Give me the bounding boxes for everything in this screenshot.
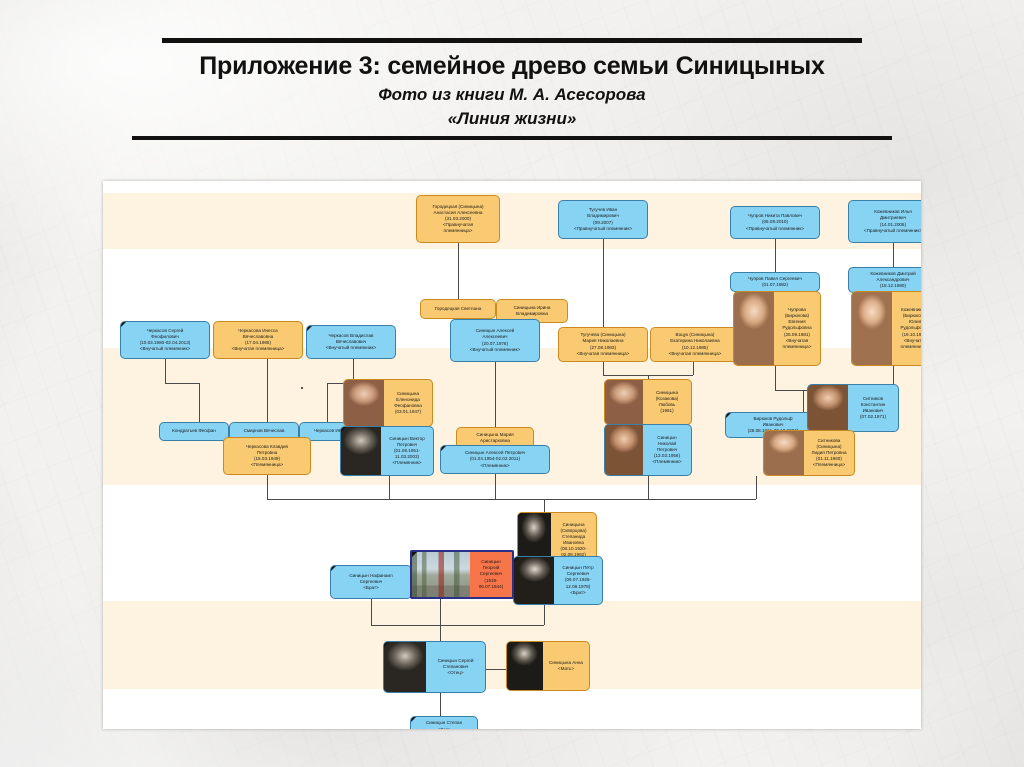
connector xyxy=(648,476,649,499)
connector xyxy=(775,366,776,390)
header-rule-top xyxy=(162,38,862,43)
connector xyxy=(371,599,372,625)
node-sinitsyn-nafanail[interactable]: Синицын Нафанаил Сергеевич <Брат> xyxy=(330,565,412,599)
portrait-photo xyxy=(808,385,848,431)
node-cherkasov-vladislav[interactable]: Черкасов Владислав Вячеславович <Внучаты… xyxy=(306,325,396,359)
node-sinitsyna-elenonida[interactable]: Синицына Еленонида Феофановна (03.01.194… xyxy=(343,379,433,427)
node-chuprov-nikita[interactable]: Чупров Никита Павлович (06.08.2010) <Пра… xyxy=(730,206,820,239)
portrait-photo xyxy=(734,292,774,365)
node-text: Ситников Константин Иванович (07.02.1971… xyxy=(848,385,898,431)
family-tree-canvas[interactable]: Городецкая (Синицына) Анастасия Алексеев… xyxy=(103,181,921,729)
node-kozhevnikov-dmitry[interactable]: Кожевников Дмитрий Александрович (18.12.… xyxy=(848,267,921,293)
node-sinitsyn-petr[interactable]: Синицын Пётр Сергеевич (06.07.1925- 12.0… xyxy=(513,556,603,605)
node-sinitsyn-georgiy[interactable]: Синицын Георгий Сергеевич (1919- 06.07.1… xyxy=(410,550,514,599)
note-corner-icon xyxy=(307,326,312,331)
stray-dot xyxy=(301,387,303,389)
node-cherkasov-sergey[interactable]: Черкасов Сергей Феофилович (10.03.1980-0… xyxy=(120,321,210,359)
connector xyxy=(495,474,496,499)
page-subtitle-2: «Линия жизни» xyxy=(0,109,1024,129)
note-corner-icon xyxy=(121,322,126,327)
note-corner-icon xyxy=(331,566,336,571)
node-sinitsyn-aleksey-alekseevich[interactable]: Синицын Алексей Алексеевич (20.07.1976) … xyxy=(450,319,540,362)
node-chuprov-pavel[interactable]: Чупров Павел Сергеевич (01.07.1982) xyxy=(730,272,820,292)
node-text: Кожевникова (Бирюкова) Юлия Рудольфовна … xyxy=(892,292,921,365)
node-text: Синицына (Козакова) Любовь (1961) xyxy=(643,380,691,424)
connector xyxy=(486,669,506,670)
connector xyxy=(440,625,441,641)
node-sinitsyn-viktor[interactable]: Синицын Виктор Петрович (01.08.1951- 11.… xyxy=(340,426,434,476)
node-sitnikov-konstantin[interactable]: Ситников Константин Иванович (07.02.1971… xyxy=(807,384,899,432)
connector xyxy=(267,499,756,500)
node-text: Синицына Анна <Мать> xyxy=(543,642,589,690)
node-kondratyev-feofan[interactable]: Кондратьев Феофан xyxy=(159,422,229,441)
connector xyxy=(603,239,604,327)
node-cherkasova-inessa[interactable]: Черкасова Инесса Вячеславовна (17.04.198… xyxy=(213,321,303,359)
connector xyxy=(458,243,459,299)
node-kozhevnikov-ilya[interactable]: Кожевников Илья Дмитриевич (14.01.2005) … xyxy=(848,200,921,243)
node-sinitsyna-anna[interactable]: Синицына Анна <Мать> xyxy=(506,641,590,691)
portrait-photo xyxy=(341,427,381,475)
node-text: Синицын Пётр Сергеевич (06.07.1925- 12.0… xyxy=(554,557,602,604)
node-sinitsyn-sergey-stepanovich[interactable]: Синицын Сергей Степанович <Отец> xyxy=(383,641,486,693)
connector xyxy=(440,693,441,716)
node-text: Чупрова (Бирюкова) Евгения Рудольфовна (… xyxy=(774,292,820,365)
connector xyxy=(603,362,604,375)
node-gorodetskaya-anastasia[interactable]: Городецкая (Синицына) Анастасия Алексеев… xyxy=(416,195,500,243)
portrait-photo xyxy=(764,431,804,475)
node-text: Синицын Сергей Степанович <Отец> xyxy=(426,642,485,692)
node-sinitsyna-lyubov[interactable]: Синицына (Козакова) Любовь (1961) xyxy=(604,379,692,425)
connector xyxy=(165,359,166,383)
connector xyxy=(775,239,776,272)
node-text: Синицына Еленонида Феофановна (03.01.194… xyxy=(384,380,432,426)
connector xyxy=(389,476,390,499)
portrait-photo xyxy=(852,292,892,365)
portrait-photo xyxy=(514,557,554,604)
connector xyxy=(199,383,200,422)
node-kozhevnikova-yulia[interactable]: Кожевникова (Бирюкова) Юлия Рудольфовна … xyxy=(851,291,921,366)
connector xyxy=(544,499,545,512)
header-rule-bottom xyxy=(132,136,892,140)
connector xyxy=(327,383,328,422)
portrait-photo xyxy=(507,642,543,690)
node-cherkasova-klavdia[interactable]: Черкасова Клавдия Петровна (15.03.1949) … xyxy=(223,437,311,475)
node-gorodetskaya-svetlana[interactable]: Городецкая Светлана xyxy=(420,299,496,319)
node-text: Синицын Виктор Петрович (01.08.1951- 11.… xyxy=(381,427,433,475)
node-sinitsyn-stepan[interactable]: Синицын Степан <Дед> xyxy=(410,716,478,729)
node-text: Синицын Николай Петрович (13.03.1956) <П… xyxy=(643,425,691,475)
portrait-photo xyxy=(605,425,643,475)
page-title: Приложение 3: семейное древо семьи Синиц… xyxy=(0,52,1024,81)
connector xyxy=(544,605,545,625)
connector xyxy=(440,599,441,625)
node-chuprova-evgenia[interactable]: Чупрова (Бирюкова) Евгения Рудольфовна (… xyxy=(733,291,821,366)
connector xyxy=(267,359,268,422)
slide-header: Приложение 3: семейное древо семьи Синиц… xyxy=(0,0,1024,140)
connector xyxy=(803,390,804,412)
node-sinitsyn-aleksey-petrovich[interactable]: Синицын Алексей Петрович (01.04.1954-02.… xyxy=(440,445,550,474)
portrait-photo xyxy=(344,380,384,426)
node-text: Ситникова (Синицына) Лидия Петровна (01.… xyxy=(804,431,854,475)
node-tuguchewa-maria[interactable]: Тугучева (Синицына) Мария Николаевна (27… xyxy=(558,327,648,362)
node-sitnikova-lidia[interactable]: Ситникова (Синицына) Лидия Петровна (01.… xyxy=(763,430,855,476)
node-tuguchev-ivan[interactable]: Тугучев Иван Владимирович (09.2007) <Пра… xyxy=(558,200,648,239)
connector xyxy=(165,383,199,384)
connector xyxy=(693,362,694,375)
page-subtitle-1: Фото из книги М. А. Асесорова xyxy=(0,85,1024,105)
connector xyxy=(756,476,757,499)
node-text: Синицын Георгий Сергеевич (1919- 06.07.1… xyxy=(470,552,512,597)
node-votsuk-ekaterina[interactable]: Воцук (Синицына) Екатерина Николаевна (1… xyxy=(650,327,740,362)
portrait-photo xyxy=(605,380,643,424)
connector xyxy=(371,625,544,626)
node-sinitsyn-nikolay[interactable]: Синицын Николай Петрович (13.03.1956) <П… xyxy=(604,424,692,476)
memorial-photo xyxy=(412,552,470,597)
connector xyxy=(267,475,268,499)
portrait-photo xyxy=(384,642,426,692)
